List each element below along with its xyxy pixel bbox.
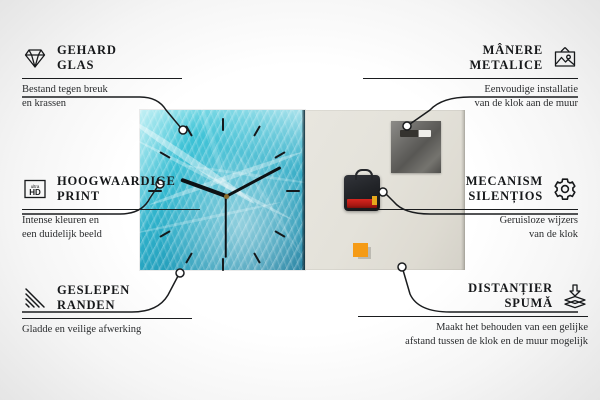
feature-description: Gladde en veilige afwerking <box>22 323 237 337</box>
feature-description: Bestand tegen breuken krassen <box>22 83 237 111</box>
feature-title: GEHARDGLAS <box>57 43 117 74</box>
feature-header: ultra HD HOOGWAARDIGEPRINT <box>22 172 237 206</box>
diamond-icon <box>22 45 48 71</box>
hour-marker <box>253 252 261 263</box>
ultra-hd-icon: ultra HD <box>22 176 48 202</box>
svg-text:HD: HD <box>29 188 41 197</box>
foam-spacer-pad <box>353 243 368 257</box>
feature-description: Eenvoudige installatievan de klok aan de… <box>363 83 578 111</box>
feature-description: Maakt het behouden van een gelijkeafstan… <box>358 321 588 349</box>
feature-header: MÂNEREMETALICE <box>363 41 578 75</box>
connector-endpoint <box>176 269 184 277</box>
feather-streak <box>235 151 301 254</box>
feature-description: Intense kleuren eneen duidelijk beeld <box>22 214 237 242</box>
feature-header: GESLEPENRANDEN <box>22 281 237 315</box>
feature-header: DISTANȚIERSPUMĂ <box>358 279 588 313</box>
feature-divider <box>358 316 588 317</box>
hour-marker <box>185 125 193 136</box>
feature-geslepen-randen: GESLEPENRANDEN Gladde en veilige afwerki… <box>22 281 237 337</box>
beveled-edges-icon <box>22 285 48 311</box>
feature-hoogwaardige-print: ultra HD HOOGWAARDIGEPRINT Intense kleur… <box>22 172 237 242</box>
feature-divider <box>22 318 192 319</box>
hour-marker <box>253 125 261 136</box>
hanger-slot <box>400 130 431 137</box>
picture-hanger-icon <box>552 45 578 71</box>
feature-title: HOOGWAARDIGEPRINT <box>57 174 176 205</box>
hour-marker <box>286 190 300 192</box>
feature-header: GEHARDGLAS <box>22 41 237 75</box>
feature-title: GESLEPENRANDEN <box>57 283 130 314</box>
gear-icon <box>552 176 578 202</box>
metal-hanger-plate <box>391 121 441 173</box>
hour-marker <box>185 252 193 263</box>
feature-divider <box>363 209 578 210</box>
feature-gehard-glas: GEHARDGLAS Bestand tegen breuken krassen <box>22 41 237 111</box>
spacer-stack-icon <box>562 283 588 309</box>
feature-title: MECANISMSILENȚIOS <box>466 174 543 205</box>
feature-divider <box>363 78 578 79</box>
feature-description: Geruisloze wijzersvan de klok <box>363 214 578 242</box>
feature-divider <box>22 209 200 210</box>
feature-title: MÂNEREMETALICE <box>469 43 543 74</box>
feature-mecanism-silentios: MECANISMSILENȚIOS Geruisloze wijzersvan … <box>363 172 578 242</box>
hour-marker <box>222 258 224 271</box>
feature-divider <box>22 78 182 79</box>
feature-distantier-spuma: DISTANȚIERSPUMĂ Maakt het behouden van e… <box>358 279 588 349</box>
hour-marker <box>222 118 224 131</box>
product-feature-infographic: GEHARDGLAS Bestand tegen breuken krassen… <box>0 0 600 400</box>
feature-manere-metalice: MÂNEREMETALICE Eenvoudige installatievan… <box>363 41 578 111</box>
feature-header: MECANISMSILENȚIOS <box>363 172 578 206</box>
feature-title: DISTANȚIERSPUMĂ <box>468 281 553 312</box>
